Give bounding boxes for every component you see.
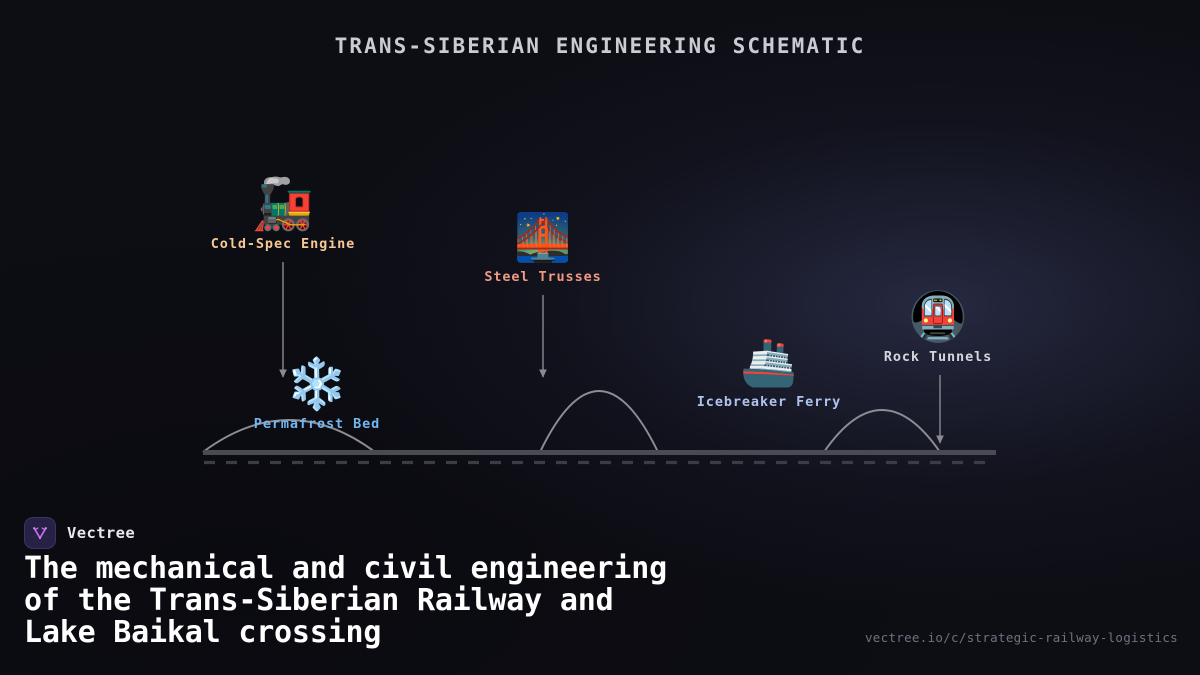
diagram-node-cold-spec-engine[interactable]: 🚂 Cold-Spec Engine [183,178,383,252]
arch-east [824,410,940,452]
snowflake-icon: ❄️ [286,358,348,410]
footer-headline: The mechanical and civil engineering of … [24,553,864,649]
node-label-permafrost-bed: Permafrost Bed [254,416,380,432]
passenger-ship-icon: 🚢 [740,336,797,388]
vectree-logo-icon [24,517,56,549]
diagram-node-permafrost-bed[interactable]: ❄️ Permafrost Bed [217,358,417,432]
node-label-steel-trusses: Steel Trusses [484,269,601,285]
brand-name: Vectree [67,524,135,542]
brand-lockup[interactable]: Vectree [24,517,135,549]
arch-tall-center [540,391,658,452]
bridge-at-night-icon: 🌉 [514,211,571,263]
node-label-rock-tunnels: Rock Tunnels [884,349,992,365]
footer-url: vectree.io/c/strategic-railway-logistics [865,630,1178,645]
metro-train-icon: 🚇 [908,291,968,343]
footer: Vectree The mechanical and civil enginee… [0,490,1200,675]
diagram-node-rock-tunnels[interactable]: 🚇 Rock Tunnels [838,291,1038,365]
node-label-icebreaker-ferry: Icebreaker Ferry [697,394,841,410]
schematic-stage: TRANS-SIBERIAN ENGINEERING SCHEMATIC [0,0,1200,675]
vectree-glyph [30,523,50,543]
diagram-node-steel-trusses[interactable]: 🌉 Steel Trusses [443,211,643,285]
steam-locomotive-icon: 🚂 [252,178,314,230]
node-label-cold-spec-engine: Cold-Spec Engine [211,236,355,252]
diagram-canvas: 🚂 Cold-Spec Engine 🌉 Steel Trusses ❄️ Pe… [0,0,1200,490]
